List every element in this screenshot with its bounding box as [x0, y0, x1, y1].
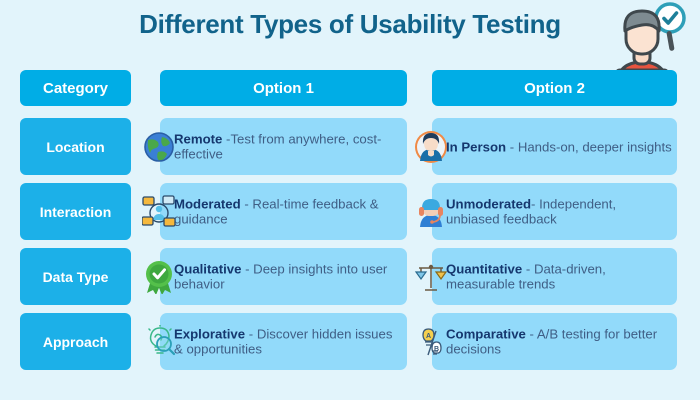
dash: - [531, 196, 539, 211]
cell-text: Comparative - A/B testing for better dec… [446, 326, 673, 357]
dash: - [522, 261, 534, 276]
cell-text: Explorative - Discover hidden issues & o… [174, 326, 403, 357]
ab-test-lightbulb-icon: A B [414, 325, 448, 359]
term: Quantitative [446, 261, 522, 276]
desc: Hands-on, deeper insights [518, 139, 672, 154]
globe-icon [142, 130, 176, 164]
category-label-data-type: Data Type [20, 248, 131, 305]
cell-interaction-option1: Moderated - Real-time feedback & guidanc… [160, 183, 407, 240]
dash: - [506, 139, 518, 154]
headset-support-icon [414, 195, 448, 229]
category-label-approach: Approach [20, 313, 131, 370]
infographic-canvas: Different Types of Usability Testing </>… [0, 0, 700, 400]
svg-text:A: A [426, 333, 431, 340]
cell-approach-option2: A B Comparative - A/B testing for better… [432, 313, 677, 370]
person-avatar-icon [414, 130, 448, 164]
dash: - [241, 196, 253, 211]
cell-text: In Person - Hands-on, deeper insights [446, 139, 673, 155]
dash: - [241, 261, 253, 276]
person-speech-bubbles-icon [142, 195, 176, 229]
header-option-1: Option 1 [160, 70, 407, 106]
balance-scale-icon [414, 260, 448, 294]
cell-datatype-option1: Qualitative - Deep insights into user be… [160, 248, 407, 305]
cell-text: Remote -Test from anywhere, cost-effecti… [174, 131, 403, 162]
term: Remote [174, 131, 222, 146]
term: Explorative [174, 326, 245, 341]
cell-text: Qualitative - Deep insights into user be… [174, 261, 403, 292]
header-category: Category [20, 70, 131, 106]
cell-datatype-option2: Quantitative - Data-driven, measurable t… [432, 248, 677, 305]
cell-interaction-option2: Unmoderated- Independent, unbiased feedb… [432, 183, 677, 240]
term: Unmoderated [446, 196, 531, 211]
term: Qualitative [174, 261, 241, 276]
cell-text: Quantitative - Data-driven, measurable t… [446, 261, 673, 292]
category-label-interaction: Interaction [20, 183, 131, 240]
cell-approach-option1: Explorative - Discover hidden issues & o… [160, 313, 407, 370]
dash: - [526, 326, 537, 341]
term: In Person [446, 139, 506, 154]
category-label-location: Location [20, 118, 131, 175]
term: Comparative [446, 326, 526, 341]
cell-location-option2: In Person - Hands-on, deeper insights [432, 118, 677, 175]
header-option-2: Option 2 [432, 70, 677, 106]
cell-text: Unmoderated- Independent, unbiased feedb… [446, 196, 673, 227]
green-check-badge-icon [142, 260, 176, 294]
lightbulb-magnifier-icon [142, 325, 176, 359]
svg-text:B: B [434, 346, 439, 353]
term: Moderated [174, 196, 241, 211]
cell-text: Moderated - Real-time feedback & guidanc… [174, 196, 403, 227]
dash: - [245, 326, 257, 341]
cell-location-option1: Remote -Test from anywhere, cost-effecti… [160, 118, 407, 175]
